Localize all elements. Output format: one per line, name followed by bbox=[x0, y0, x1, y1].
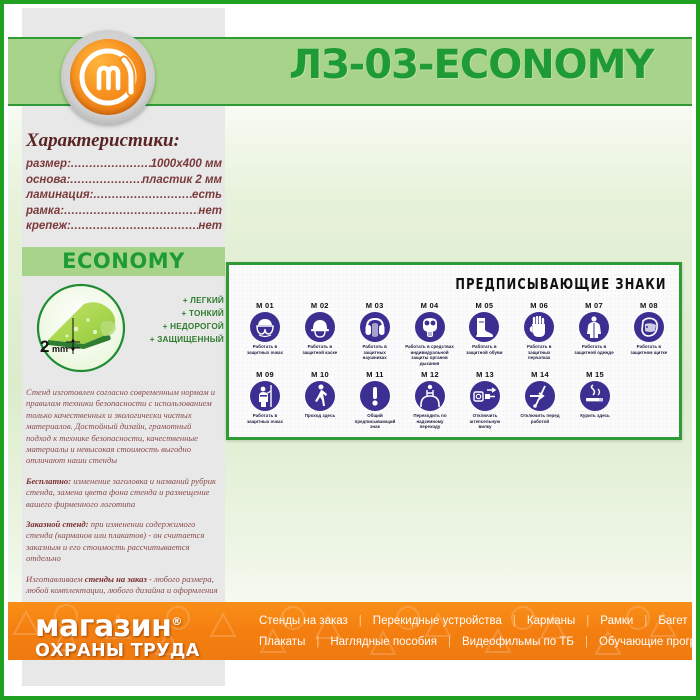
sign-item: M 10 Проход здесь bbox=[294, 370, 346, 430]
menu-separator: | bbox=[448, 636, 451, 648]
description-paragraph-1: Стенд изготовлен согласно современным но… bbox=[26, 387, 218, 467]
description-block: Стенд изготовлен согласно современным но… bbox=[26, 387, 218, 606]
free-label: Бесплатно: bbox=[26, 476, 71, 486]
spec-row-size: размер: ...................... 1000x400 … bbox=[26, 158, 222, 170]
svg-text:mm: mm bbox=[52, 344, 68, 354]
spec-dots: ................................... bbox=[71, 220, 199, 232]
sign-row-2: M 09 Работать в защитных очках M 10 Прох… bbox=[239, 370, 621, 430]
sign-label: Работать в защитной обуви bbox=[458, 344, 510, 355]
bottom-strip-left-block bbox=[22, 660, 225, 686]
spec-key: размер: bbox=[26, 158, 71, 170]
description-paragraph-4: Изготавливаем стенды на заказ - любого р… bbox=[26, 574, 218, 597]
safety-glasses-icon bbox=[250, 312, 280, 342]
safety-harness-icon bbox=[250, 381, 280, 411]
sign-item: M 06 Работать в защитных перчатках bbox=[513, 301, 565, 366]
sign-row-1: M 01 Работать в защитных очках M 02 Рабо… bbox=[239, 301, 675, 366]
protective-clothing-icon bbox=[579, 312, 609, 342]
sign-code: M 12 bbox=[404, 370, 456, 379]
footer-menu-row-2: Плакаты | Наглядные пособия | Видеофильм… bbox=[248, 631, 684, 652]
svg-text:2: 2 bbox=[40, 337, 49, 356]
spec-row-lamination: ламинация: .............................… bbox=[26, 189, 222, 201]
footer-link-visual-aids[interactable]: Наглядные пособия bbox=[319, 636, 448, 648]
sign-code: M 13 bbox=[459, 370, 511, 379]
footer-menu-row-1: Стенды на заказ | Перекидные устройства … bbox=[248, 610, 684, 631]
bottom-strip bbox=[8, 660, 692, 692]
respirator-icon bbox=[415, 312, 445, 342]
spec-row-mount: крепеж: ................................… bbox=[26, 220, 222, 232]
safety-gloves-icon bbox=[524, 312, 554, 342]
sign-label: Работать в защитном щитке bbox=[623, 344, 675, 355]
sign-label: Работать в защитных наушниках bbox=[349, 344, 401, 361]
spec-key: основа: bbox=[26, 174, 70, 186]
poster-page: ЛЗ-03-ECONOMY Характеристики: размер: ..… bbox=[0, 0, 700, 700]
footer-link-posters[interactable]: Плакаты bbox=[248, 636, 316, 648]
footer-brand[interactable]: магазин® ОХРАНЫ ТРУДА bbox=[35, 607, 235, 660]
sign-code: M 02 bbox=[294, 301, 346, 310]
sign-item: M 03 Работать в защитных наушниках bbox=[349, 301, 401, 366]
safety-boot-icon bbox=[469, 312, 499, 342]
sign-label: Работать в средствах индивидуальной защи… bbox=[404, 344, 456, 366]
economy-banner-label: ECONOMY bbox=[22, 247, 225, 276]
sign-label: Работать в защитной каске bbox=[294, 344, 346, 355]
magazin-m-logo-icon bbox=[61, 30, 155, 124]
sign-label: Переходить по надземному переходу bbox=[404, 413, 456, 430]
sign-item: M 14 Отключить перед работой bbox=[514, 370, 566, 430]
sign-code: M 04 bbox=[404, 301, 456, 310]
sign-label: Работать в защитной одежде bbox=[568, 344, 620, 355]
spec-value: есть bbox=[192, 189, 222, 201]
sign-code: M 09 bbox=[239, 370, 291, 379]
menu-separator: | bbox=[585, 636, 588, 648]
unplug-icon bbox=[470, 381, 500, 411]
sign-code: M 15 bbox=[569, 370, 621, 379]
economy-banner: ECONOMY bbox=[22, 247, 225, 276]
spec-row-base: основа: ...................... пластик 2… bbox=[26, 174, 222, 186]
sign-code: M 11 bbox=[349, 370, 401, 379]
bullet-item: + ЗАЩИЩЕННЫЙ bbox=[144, 333, 224, 346]
sign-item: M 05 Работать в защитной обуви bbox=[458, 301, 510, 366]
site-footer: магазин® ОХРАНЫ ТРУДА Стенды на заказ | … bbox=[8, 602, 692, 660]
spec-dots: ...................... bbox=[70, 174, 142, 186]
footer-link-frames[interactable]: Рамки bbox=[589, 615, 644, 627]
sign-label: Работать в защитных очках bbox=[239, 413, 291, 424]
sign-item: M 15 Курить здесь bbox=[569, 370, 621, 430]
description-paragraph-2: Бесплатно: изменение заголовка и названи… bbox=[26, 476, 218, 510]
sign-item: M 09 Работать в защитных очках bbox=[239, 370, 291, 430]
bullet-item: + ЛЕГКИЙ bbox=[144, 294, 224, 307]
sign-item: M 01 Работать в защитных очках bbox=[239, 301, 291, 366]
sign-label: Проход здесь bbox=[294, 413, 346, 419]
sign-item: M 12 Переходить по надземному переходу bbox=[404, 370, 456, 430]
sign-label: Отключить штепсельную вилку bbox=[459, 413, 511, 430]
sign-item: M 07 Работать в защитной одежде bbox=[568, 301, 620, 366]
footer-link-stands[interactable]: Стенды на заказ bbox=[248, 615, 359, 627]
sign-item: M 04 Работать в средствах индивидуальной… bbox=[404, 301, 456, 366]
menu-separator: | bbox=[586, 615, 589, 627]
spec-value: пластик 2 мм bbox=[142, 174, 222, 186]
footer-brand-line2: ОХРАНЫ ТРУДА bbox=[35, 642, 235, 660]
description-paragraph-3: Заказной стенд: при изменении содержимог… bbox=[26, 519, 218, 565]
ear-protection-icon bbox=[360, 312, 390, 342]
sign-item: M 02 Работать в защитной каске bbox=[294, 301, 346, 366]
spec-value: 1000x400 мм bbox=[151, 158, 222, 170]
registered-mark-icon: ® bbox=[171, 615, 182, 628]
footer-link-training[interactable]: Обучающие программы bbox=[588, 636, 692, 648]
smoking-area-icon bbox=[580, 381, 610, 411]
custom-label: Заказной стенд: bbox=[26, 519, 89, 529]
page-title: ЛЗ-03-ECONOMY bbox=[289, 42, 653, 88]
sign-code: M 10 bbox=[294, 370, 346, 379]
sign-code: M 06 bbox=[513, 301, 565, 310]
spec-dots: .............................. bbox=[93, 189, 192, 201]
face-shield-icon bbox=[634, 312, 664, 342]
footer-brand-line1: магазин® bbox=[35, 607, 235, 642]
sign-code: M 05 bbox=[458, 301, 510, 310]
footer-menu: Стенды на заказ | Перекидные устройства … bbox=[248, 610, 684, 652]
sign-code: M 07 bbox=[568, 301, 620, 310]
spec-value: нет bbox=[198, 220, 222, 232]
characteristics-heading: Характеристики: bbox=[26, 130, 222, 152]
hard-hat-icon bbox=[305, 312, 335, 342]
spec-dots: ...................... bbox=[71, 158, 151, 170]
sign-code: M 03 bbox=[349, 301, 401, 310]
sign-code: M 08 bbox=[623, 301, 675, 310]
footer-link-flip-systems[interactable]: Перекидные устройства bbox=[362, 615, 513, 627]
overpass-icon bbox=[415, 381, 445, 411]
footer-link-baguette[interactable]: Багет bbox=[647, 615, 692, 627]
sign-item: M 08 Работать в защитном щитке bbox=[623, 301, 675, 366]
spec-key: ламинация: bbox=[26, 189, 93, 201]
sign-label: Работать в защитных очках bbox=[239, 344, 291, 355]
sign-label: Общий предписывающий знак bbox=[349, 413, 401, 430]
sign-code: M 14 bbox=[514, 370, 566, 379]
spec-value: нет bbox=[198, 205, 222, 217]
sign-code: M 01 bbox=[239, 301, 291, 310]
bullet-item: + ТОНКИЙ bbox=[144, 307, 224, 320]
sign-item: M 13 Отключить штепсельную вилку bbox=[459, 370, 511, 430]
sign-label: Курить здесь bbox=[569, 413, 621, 419]
menu-separator: | bbox=[359, 615, 362, 627]
menu-separator: | bbox=[513, 615, 516, 627]
disconnect-before-work-icon bbox=[525, 381, 555, 411]
sign-label: Отключить перед работой bbox=[514, 413, 566, 424]
economy-bullets: + ЛЕГКИЙ + ТОНКИЙ + НЕДОРОГОЙ + ЗАЩИЩЕНН… bbox=[144, 294, 224, 346]
footer-link-pockets[interactable]: Карманы bbox=[516, 615, 586, 627]
bullet-item: + НЕДОРОГОЙ bbox=[144, 320, 224, 333]
general-mandatory-icon bbox=[360, 381, 390, 411]
menu-separator: | bbox=[316, 636, 319, 648]
walk-here-icon bbox=[305, 381, 335, 411]
spec-row-frame: рамка: .................................… bbox=[26, 205, 222, 217]
sign-item: M 11 Общий предписывающий знак bbox=[349, 370, 401, 430]
made-pre: Изготавливаем bbox=[26, 574, 85, 584]
panel-title: ПРЕДПИСЫВАЮЩИЕ ЗНАКИ bbox=[456, 275, 667, 293]
spec-dots: ...................................... bbox=[64, 205, 198, 217]
footer-link-videos[interactable]: Видеофильмы по ТБ bbox=[451, 636, 585, 648]
thickness-illustration: 2 mm bbox=[26, 282, 144, 374]
spec-key: рамка: bbox=[26, 205, 64, 217]
made-label: стенды на заказ bbox=[85, 574, 147, 584]
sign-label: Работать в защитных перчатках bbox=[513, 344, 565, 361]
logo-m-glyph-icon bbox=[61, 30, 155, 124]
characteristics-block: Характеристики: размер: ................… bbox=[26, 130, 222, 236]
sign-board-panel: ПРЕДПИСЫВАЮЩИЕ ЗНАКИ M 01 Работать в защ… bbox=[226, 262, 682, 440]
spec-key: крепеж: bbox=[26, 220, 71, 232]
menu-separator: | bbox=[644, 615, 647, 627]
